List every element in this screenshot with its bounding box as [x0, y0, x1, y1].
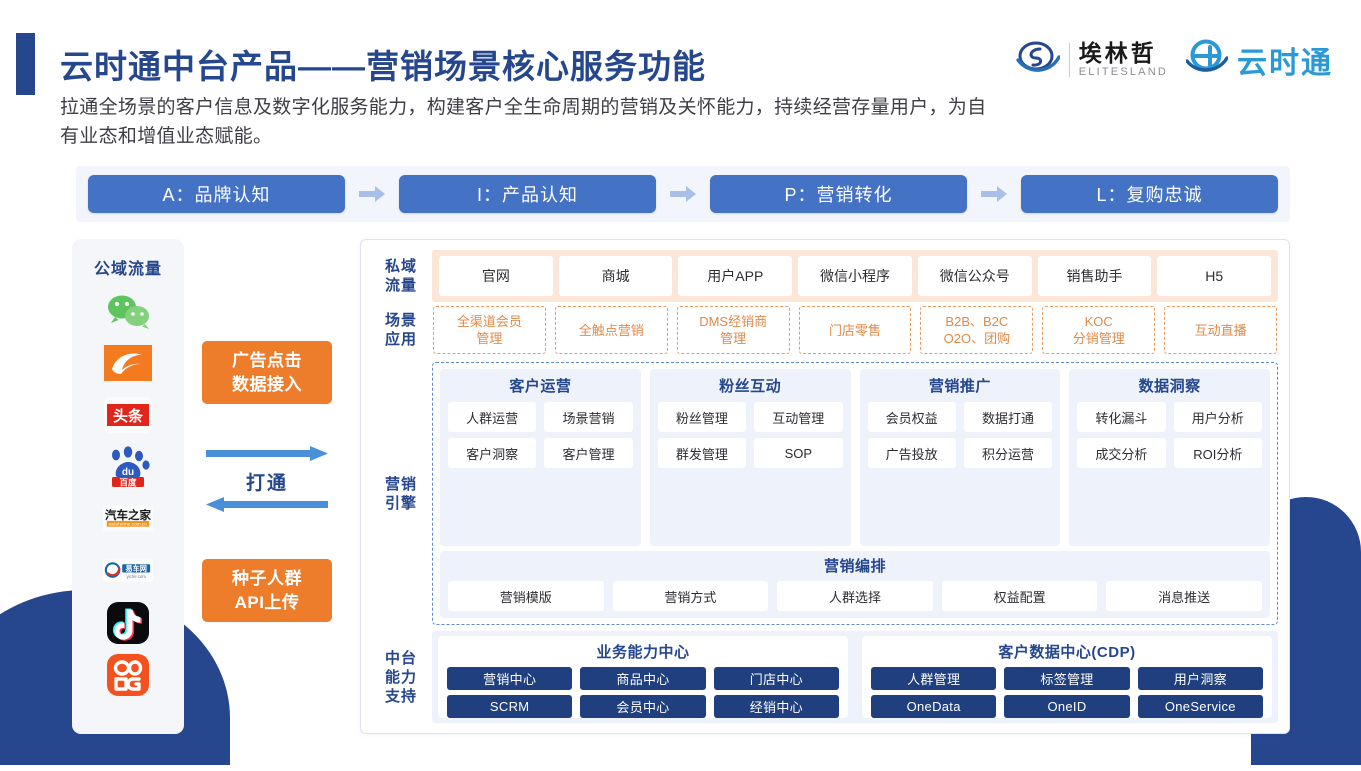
arrow-right-long-icon [206, 446, 328, 466]
slide-root: 云时通中台产品——营销场景核心服务功能 拉通全场景的客户信息及数字化服务能力，构… [0, 0, 1361, 771]
toutiao-icon[interactable]: 头条 [102, 393, 154, 437]
svg-text:百度: 百度 [119, 478, 137, 488]
orchestration-tile[interactable]: 人群选择 [777, 581, 933, 611]
engine-tile-grid: 转化漏斗 用户分析 成交分析 ROI分析 [1077, 402, 1262, 468]
mid-card-title: 业务能力中心 [596, 641, 689, 662]
svg-text:头条: 头条 [113, 407, 144, 425]
mid-platform-label-line-3: 支持 [385, 688, 417, 705]
engine-tile[interactable]: 互动管理 [754, 402, 842, 432]
engine-group-title: 数据洞察 [1139, 375, 1201, 396]
datong-connector: 打通 [202, 446, 332, 517]
mid-tile[interactable]: 商品中心 [580, 667, 705, 690]
datong-label: 打通 [246, 468, 288, 495]
aipl-stage-i[interactable]: I：产品认知 [399, 175, 656, 213]
mid-tile[interactable]: OneData [871, 695, 996, 718]
customer-data-platform-card: 客户数据中心(CDP) 人群管理 标签管理 用户洞察 OneData OneID… [862, 636, 1272, 718]
scenario-label: 场景 应用 [370, 302, 432, 358]
private-traffic-chip[interactable]: 商城 [559, 256, 673, 296]
orchestration-tile[interactable]: 消息推送 [1106, 581, 1262, 611]
engine-tile[interactable]: 广告投放 [868, 438, 956, 468]
scenario-label-line-2: 应用 [385, 331, 417, 348]
yunshitong-mark-icon [1186, 39, 1228, 82]
aipl-stage-a[interactable]: A：品牌认知 [88, 175, 345, 213]
mid-platform-label-line-1: 中台 [385, 650, 417, 667]
public-traffic-title: 公域流量 [94, 255, 162, 279]
logo-group: 埃林哲 ELITESLAND 云时通 [1016, 38, 1333, 82]
marketing-engine-label: 营销 引擎 [370, 362, 432, 625]
aipl-stage-l[interactable]: L：复购忠诚 [1021, 175, 1278, 213]
yiche-icon[interactable]: 易车网 yiche.com [102, 549, 154, 593]
mid-tile[interactable]: 人群管理 [871, 667, 996, 690]
engine-group-title: 客户运营 [509, 375, 571, 396]
marketing-engine-groups: 客户运营 人群运营 场景营销 客户洞察 客户管理 粉丝互动 粉丝管理 互动管理 [440, 369, 1270, 546]
capability-panel: 私域 流量 官网 商城 用户APP 微信小程序 微信公众号 销售助手 H5 场景… [360, 239, 1290, 734]
engine-group-title: 营销推广 [929, 375, 991, 396]
marketing-engine-label-line-1: 营销 [385, 476, 417, 493]
engine-group-marketing-promotion: 营销推广 会员权益 数据打通 广告投放 积分运营 [860, 369, 1061, 546]
autohome-icon[interactable]: 汽车之家 autohome.com.cn [102, 497, 154, 541]
private-traffic-chip-band: 官网 商城 用户APP 微信小程序 微信公众号 销售助手 H5 [432, 250, 1278, 302]
marketing-orchestration-group: 营销编排 营销模版 营销方式 人群选择 权益配置 消息推送 [440, 551, 1270, 618]
elitesland-name-cn: 埃林哲 [1079, 41, 1168, 65]
svg-text:易车网: 易车网 [125, 564, 147, 573]
arrow-right-icon [345, 185, 399, 203]
alibaba-icon[interactable] [102, 341, 154, 385]
scenario-chip[interactable]: DMS经销商管理 [677, 306, 790, 354]
engine-tile[interactable]: ROI分析 [1174, 438, 1262, 468]
public-traffic-card: 公域流量 [72, 239, 184, 734]
scenario-row: 场景 应用 全渠道会员管理 全触点营销 DMS经销商管理 门店零售 B2B、B2… [370, 302, 1278, 358]
engine-group-customer-operation: 客户运营 人群运营 场景营销 客户洞察 客户管理 [440, 369, 641, 546]
aipl-stage-p[interactable]: P：营销转化 [710, 175, 967, 213]
private-traffic-chip[interactable]: 销售助手 [1038, 256, 1152, 296]
mid-tile[interactable]: 门店中心 [714, 667, 839, 690]
aipl-stage-bar: A：品牌认知 I：产品认知 P：营销转化 L：复购忠诚 [76, 166, 1290, 222]
orchestration-title: 营销编排 [824, 555, 886, 576]
mid-tile[interactable]: 用户洞察 [1138, 667, 1263, 690]
mid-tile[interactable]: 经销中心 [714, 695, 839, 718]
svg-text:autohome.com.cn: autohome.com.cn [109, 522, 147, 528]
orchestration-tile[interactable]: 权益配置 [942, 581, 1098, 611]
svg-text:汽车之家: 汽车之家 [105, 508, 152, 522]
orchestration-tile-row: 营销模版 营销方式 人群选择 权益配置 消息推送 [448, 581, 1262, 611]
engine-tile[interactable]: 人群运营 [448, 402, 536, 432]
scenario-label-line-1: 场景 [385, 312, 417, 329]
arrow-right-icon [967, 185, 1021, 203]
private-traffic-label-line-2: 流量 [385, 277, 417, 294]
yunshitong-name-cn: 云时通 [1237, 38, 1333, 82]
logo-yunshitong: 云时通 [1186, 38, 1333, 82]
wechat-icon[interactable] [102, 289, 154, 333]
engine-tile-grid: 粉丝管理 互动管理 群发管理 SOP [658, 402, 843, 468]
seed-api-line-1: 种子人群 [232, 569, 302, 588]
mid-platform-label-line-2: 能力 [385, 669, 417, 686]
ad-click-line-2: 数据接入 [232, 375, 302, 394]
arrow-left-long-icon [206, 497, 328, 517]
private-traffic-label-line-1: 私域 [385, 258, 417, 275]
engine-tile[interactable]: 积分运营 [964, 438, 1052, 468]
public-traffic-channel-list: 头条 du 百度 汽车之家 [102, 289, 154, 697]
private-traffic-chip[interactable]: 用户APP [678, 256, 792, 296]
svg-text:yiche.com: yiche.com [126, 574, 146, 579]
mid-tile[interactable]: 营销中心 [447, 667, 572, 690]
seed-audience-api-upload-box[interactable]: 种子人群 API上传 [202, 559, 332, 622]
title-accent-bar [16, 33, 35, 95]
mid-platform-label: 中台 能力 支持 [370, 631, 432, 723]
marketing-engine-box: 客户运营 人群运营 场景营销 客户洞察 客户管理 粉丝互动 粉丝管理 互动管理 [432, 362, 1278, 625]
engine-tile[interactable]: 数据打通 [964, 402, 1052, 432]
marketing-engine-label-line-2: 引擎 [385, 495, 417, 512]
engine-tile-grid: 会员权益 数据打通 广告投放 积分运营 [868, 402, 1053, 468]
engine-group-data-insight: 数据洞察 转化漏斗 用户分析 成交分析 ROI分析 [1069, 369, 1270, 546]
private-traffic-chip[interactable]: 官网 [439, 256, 553, 296]
scenario-chip[interactable]: B2B、B2CO2O、团购 [920, 306, 1033, 354]
elitesland-name-en: ELITESLAND [1079, 65, 1168, 79]
engine-tile[interactable]: 成交分析 [1077, 438, 1165, 468]
private-traffic-label: 私域 流量 [370, 250, 432, 302]
scenario-chip[interactable]: 门店零售 [799, 306, 912, 354]
engine-tile[interactable]: 用户分析 [1174, 402, 1262, 432]
mid-platform-band: 业务能力中心 营销中心 商品中心 门店中心 SCRM 会员中心 经销中心 客户数… [432, 631, 1278, 723]
ad-click-line-1: 广告点击 [232, 351, 302, 370]
mid-tile[interactable]: OneID [1004, 695, 1129, 718]
scenario-chip[interactable]: 互动直播 [1164, 306, 1277, 354]
private-traffic-chip[interactable]: H5 [1157, 256, 1271, 296]
douyin-icon[interactable] [102, 601, 154, 645]
engine-tile[interactable]: 场景营销 [544, 402, 632, 432]
mid-platform-row: 中台 能力 支持 业务能力中心 营销中心 商品中心 门店中心 SCRM 会员中心… [370, 631, 1278, 723]
elitesland-mark-icon [1016, 40, 1060, 81]
private-traffic-chip[interactable]: 微信小程序 [798, 256, 912, 296]
private-traffic-chip[interactable]: 微信公众号 [918, 256, 1032, 296]
scenario-chip[interactable]: KOC分销管理 [1042, 306, 1155, 354]
engine-group-fan-interaction: 粉丝互动 粉丝管理 互动管理 群发管理 SOP [650, 369, 851, 546]
logo-elitesland: 埃林哲 ELITESLAND [1016, 40, 1168, 81]
marketing-engine-row: 营销 引擎 客户运营 人群运营 场景营销 客户洞察 客户管理 [370, 362, 1278, 625]
baidu-icon[interactable]: du 百度 [102, 445, 154, 489]
engine-tile[interactable]: 客户管理 [544, 438, 632, 468]
private-traffic-row: 私域 流量 官网 商城 用户APP 微信小程序 微信公众号 销售助手 H5 [370, 250, 1278, 302]
mid-tile[interactable]: SCRM [447, 695, 572, 718]
mid-tile-grid: 营销中心 商品中心 门店中心 SCRM 会员中心 经销中心 [447, 667, 839, 718]
orchestration-tile[interactable]: 营销方式 [613, 581, 769, 611]
mid-tile[interactable]: 会员中心 [580, 695, 705, 718]
arrow-right-icon [656, 185, 710, 203]
mid-card-title: 客户数据中心(CDP) [998, 641, 1135, 662]
engine-tile[interactable]: 客户洞察 [448, 438, 536, 468]
engine-tile[interactable]: 会员权益 [868, 402, 956, 432]
bottom-white-strip [0, 765, 1361, 771]
engine-tile[interactable]: 转化漏斗 [1077, 402, 1165, 432]
svg-text:du: du [122, 467, 134, 478]
page-title: 云时通中台产品——营销场景核心服务功能 [60, 40, 706, 88]
mid-tile[interactable]: 标签管理 [1004, 667, 1129, 690]
business-capability-center-card: 业务能力中心 营销中心 商品中心 门店中心 SCRM 会员中心 经销中心 [438, 636, 848, 718]
seed-api-line-2: API上传 [235, 593, 300, 612]
ad-click-data-access-box[interactable]: 广告点击 数据接入 [202, 341, 332, 404]
engine-tile[interactable]: SOP [754, 438, 842, 468]
engine-group-title: 粉丝互动 [719, 375, 781, 396]
kuaishou-icon[interactable] [102, 653, 154, 697]
scenario-chip[interactable]: 全触点营销 [555, 306, 668, 354]
engine-tile[interactable]: 粉丝管理 [658, 402, 746, 432]
elitesland-text: 埃林哲 ELITESLAND [1079, 41, 1168, 79]
logo-divider [1069, 43, 1070, 77]
mid-tile[interactable]: OneService [1138, 695, 1263, 718]
engine-tile[interactable]: 群发管理 [658, 438, 746, 468]
engine-tile-grid: 人群运营 场景营销 客户洞察 客户管理 [448, 402, 633, 468]
page-subtitle: 拉通全场景的客户信息及数字化服务能力，构建客户全生命周期的营销及关怀能力，持续经… [60, 93, 990, 151]
mid-tile-grid: 人群管理 标签管理 用户洞察 OneData OneID OneService [871, 667, 1263, 718]
scenario-chip[interactable]: 全渠道会员管理 [433, 306, 546, 354]
scenario-chip-band: 全渠道会员管理 全触点营销 DMS经销商管理 门店零售 B2B、B2CO2O、团… [432, 302, 1278, 358]
orchestration-tile[interactable]: 营销模版 [448, 581, 604, 611]
